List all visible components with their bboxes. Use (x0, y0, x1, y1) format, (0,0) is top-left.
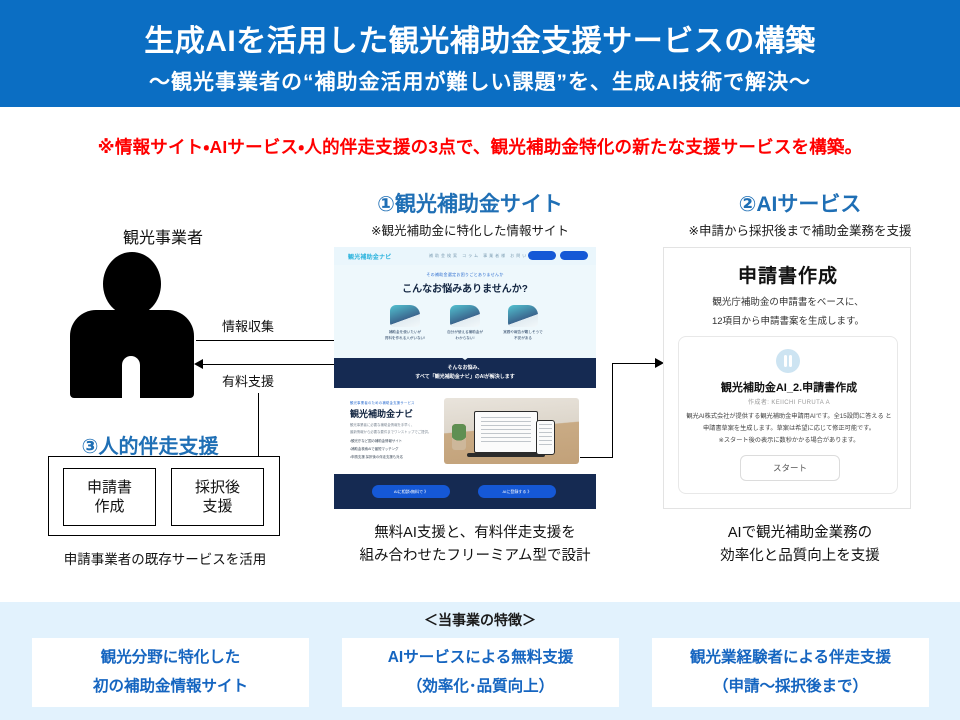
human-support-box-post-adoption: 採択後 支援 (171, 468, 264, 526)
website-mockup: 観光補助金ナビ 補助金検索 コラム 事業者様 お問い合わせ その補助金選定お困り… (334, 247, 596, 509)
mockup-illustration-1-caption: 補助金を使いたいが 資料を作れる人がいない! (378, 330, 432, 341)
human-support-box-application-line1: 申請書 (87, 478, 132, 497)
connector-site-to-ai-top (612, 363, 657, 364)
human-support-container: 申請書 作成 採択後 支援 (48, 456, 280, 536)
ai-chat-body: 観光AI株式会社が提供する観光補助金申請用AIです。全15設問に答える と申請書… (685, 411, 893, 447)
feature-box-2-line2: （効率化･品質向上） (407, 673, 554, 701)
mockup-hero-notch-shape (453, 351, 477, 360)
mockup-illustration-2-caption: 自分が使える補助金が わからない! (438, 330, 492, 341)
mockup-illustration-1: 補助金を使いたいが 資料を作れる人がいない! (378, 303, 432, 341)
mockup-feature-section: 観光事業者のための補助金支援サービス 観光補助金ナビ 観光事業者に必要な補助金情… (334, 388, 596, 474)
person-leg-gap-shape (122, 356, 140, 400)
lead-note: ※情報サイト・AIサービス・人的伴走支援の3点で、観光補助金特化の新たな支援サー… (0, 134, 960, 159)
ai-card-description: 観光庁補助金の申請書をベースに、 12項目から申請書案を生成します。 (664, 293, 912, 332)
feature-box-3-line1: 観光業経験者による伴走支援 (690, 644, 891, 672)
arrow-line-from-site (196, 364, 342, 365)
mockup-illustration-3-figure (508, 305, 538, 327)
ai-card-description-line1: 観光庁補助金の申請書をベースに、 (664, 293, 912, 312)
mockup-dark-band-line2: すべて「観光補助金ナビ」のAIが解決します (415, 373, 514, 383)
mockup-illustration-3-caption: 実務や報告が難しそうで 不安がある (496, 330, 550, 341)
arrow-line-to-site (196, 340, 342, 341)
mockup-login-button[interactable] (528, 251, 556, 260)
arrow-label-information-gathering: 情報収集 (222, 316, 274, 335)
bottom-heading: ＜当事業の特徴＞ (0, 610, 960, 630)
mockup-illustration-1-figure (390, 305, 420, 327)
mockup-illustration-2: 自分が使える補助金が わからない! (438, 303, 492, 341)
mockup-dark-band: そんなお悩み、 すべて「観光補助金ナビ」のAIが解決します (334, 358, 596, 388)
mockup-feature-eyebrow: 観光事業者のための補助金支援サービス (350, 400, 415, 405)
page-title: 生成AIを活用した観光補助金支援サービスの構築 (0, 16, 960, 60)
mockup-logo: 観光補助金ナビ (348, 252, 391, 261)
feature-box-1-line2: 初の補助金情報サイト (93, 673, 248, 701)
mockup-hero-section: その補助金選定お困りごとありませんか こんなお悩みありませんか? 補助金を使いた… (334, 265, 596, 358)
ai-chat-body-note: ※スタート後の表示に数秒かかる場合があります。 (685, 435, 893, 447)
feature-box-2-line1: AIサービスによる無料支援 (388, 644, 574, 672)
feature-box-1: 観光分野に特化した 初の補助金情報サイト (32, 638, 309, 707)
section-1-caption-line1: 無料AI支援と、有料伴走支援を (325, 522, 625, 545)
human-support-box-application: 申請書 作成 (63, 468, 156, 526)
human-support-box-post-adoption-line2: 支援 (202, 497, 232, 516)
ai-chat-author: 作成者: KEIICHI FURUTA A (679, 397, 899, 406)
header-band: 生成AIを活用した観光補助金支援サービスの構築 〜観光事業者の“補助金活用が難し… (0, 0, 960, 107)
section-1-caption: 無料AI支援と、有料伴走支援を 組み合わせたフリーミアム型で設計 (325, 522, 625, 569)
arrow-head-from-site (194, 359, 203, 369)
mockup-signup-button[interactable] (560, 251, 588, 260)
mockup-footer: AIに相談・無料で 》 AIに登録する 》 (334, 474, 596, 509)
ai-card-title: 申請書作成 (664, 261, 912, 288)
section-2-title: ②AIサービス (650, 188, 950, 218)
page-subtitle: 〜観光事業者の“補助金活用が難しい課題”を、生成AI技術で解決〜 (0, 66, 960, 96)
human-support-box-post-adoption-line1: 採択後 (195, 478, 240, 497)
section-3-title: ③人的伴走支援 (40, 430, 260, 459)
feature-box-3-line2: （申請〜採択後まで） (713, 673, 868, 701)
laptop-screen-lines (481, 417, 531, 445)
ai-card-description-line2: 12項目から申請書案を生成します。 (664, 312, 912, 331)
smartphone-screen-lines (539, 424, 552, 448)
section-1-title: ①観光補助金サイト (330, 188, 610, 218)
person-label: 観光事業者 (58, 224, 268, 248)
arrow-label-paid-support: 有料支援 (222, 371, 274, 390)
section-2-caption-line2: 効率化と品質向上を支援 (650, 545, 950, 568)
person-head-shape (103, 252, 161, 316)
ai-chat-body-line1: 観光AI株式会社が提供する観光補助金申請用AIです。全15設問に答える (686, 413, 883, 420)
mockup-feature-title: 観光補助金ナビ (350, 407, 413, 420)
connector-site-to-ai-bottom (580, 457, 613, 458)
section-1-subtitle: ※観光補助金に特化した情報サイト (330, 220, 610, 239)
section-2-caption-line1: AIで観光補助金業務の (650, 522, 950, 545)
mockup-hero-eyebrow: その補助金選定お困りごとありませんか (334, 272, 596, 278)
ai-bot-icon (776, 349, 800, 373)
mockup-footer-button-2[interactable]: AIに登録する 》 (478, 485, 556, 498)
mockup-feature-body: 観光事業者に必要な補助金情報を手早く、 最新情報から必要な要件までワンストップで… (350, 422, 432, 436)
bottom-band: ＜当事業の特徴＞ 観光分野に特化した 初の補助金情報サイト AIサービスによる無… (0, 602, 960, 720)
section-2-caption: AIで観光補助金業務の 効率化と品質向上を支援 (650, 522, 950, 569)
mockup-hero-title: こんなお悩みありませんか? (334, 280, 596, 295)
ai-chat-panel: 観光補助金AI_2.申請書作成 作成者: KEIICHI FURUTA A 観光… (678, 336, 898, 494)
laptop-icon (474, 411, 538, 453)
ai-chat-title: 観光補助金AI_2.申請書作成 (679, 379, 899, 395)
mockup-illustration-2-figure (450, 305, 480, 327)
tourism-operator-icon (70, 252, 196, 397)
feature-box-2: AIサービスによる無料支援 （効率化･品質向上） (342, 638, 619, 707)
section-2-subtitle: ※申請から採択後まで補助金業務を支援 (650, 220, 950, 239)
ai-service-card: 申請書作成 観光庁補助金の申請書をベースに、 12項目から申請書案を生成します。… (663, 247, 911, 509)
connector-site-to-ai-vertical (612, 363, 613, 458)
section-1-caption-line2: 組み合わせたフリーミアム型で設計 (325, 545, 625, 568)
mockup-footer-button-1[interactable]: AIに相談・無料で 》 (372, 485, 450, 498)
smartphone-icon (536, 420, 555, 455)
mockup-illustration-3: 実務や報告が難しそうで 不安がある (496, 303, 550, 341)
ai-start-button[interactable]: スタート (740, 455, 840, 481)
mockup-dark-band-line1: そんなお悩み、 (447, 364, 482, 374)
feature-box-1-line1: 観光分野に特化した (101, 644, 241, 672)
feature-box-3: 観光業経験者による伴走支援 （申請〜採択後まで） (652, 638, 929, 707)
mockup-device-photo (444, 398, 579, 464)
mockup-feature-list: ・観光庁など国の補助金情報サイト ・補助金検索AIで最短マッチング ・申請支援 … (350, 438, 434, 461)
section-3-caption: 申請事業者の既存サービスを活用 (20, 548, 310, 568)
plant-decoration (452, 424, 466, 450)
human-support-box-application-line2: 作成 (94, 497, 124, 516)
